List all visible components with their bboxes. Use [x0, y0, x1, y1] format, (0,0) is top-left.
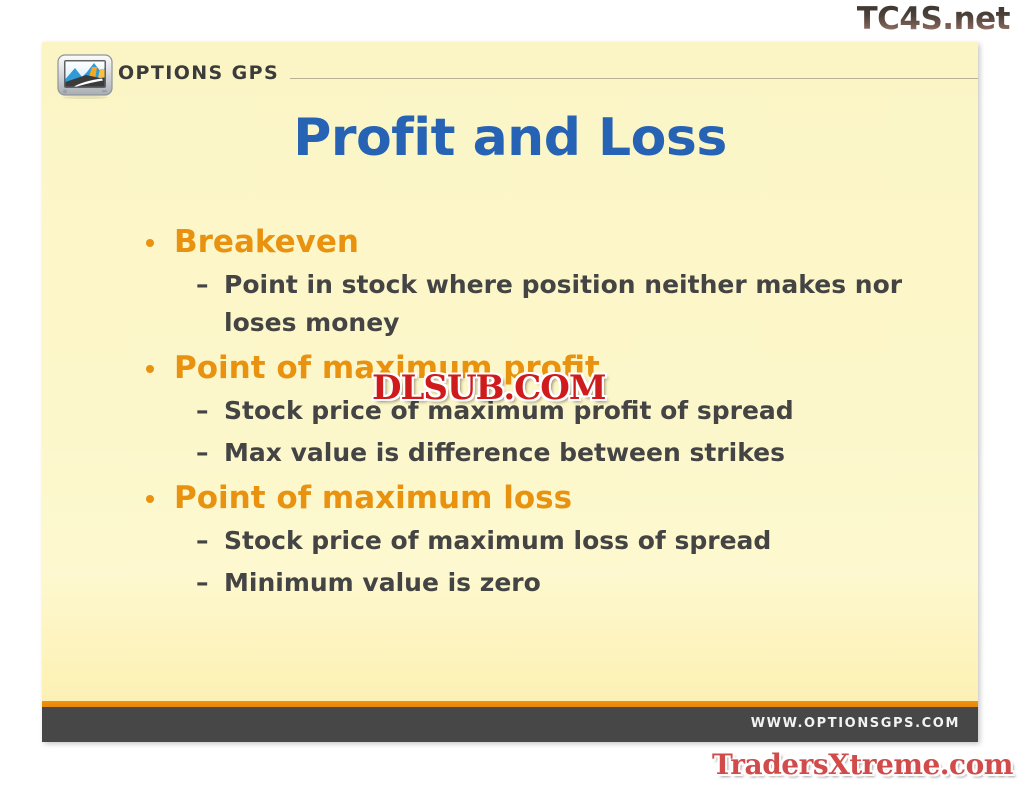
bullet-group: Breakeven – Point in stock where positio…: [138, 220, 958, 342]
dash-icon: –: [196, 564, 209, 602]
slide-footer: www.OptionsGPS.com: [42, 707, 978, 742]
bullet-dot-icon: [146, 365, 154, 373]
dash-icon: –: [196, 266, 209, 304]
dash-icon: –: [196, 522, 209, 560]
sub-bullet-label: Stock price of maximum loss of spread: [224, 526, 771, 555]
slide-header: Options GPS: [42, 42, 978, 104]
sub-bullet-label: Max value is difference between strikes: [224, 438, 785, 467]
footer-url-label: www.OptionsGPS.com: [751, 716, 960, 731]
gps-device-icon: [56, 53, 114, 99]
bullet-dot-icon: [146, 495, 154, 503]
sub-bullet-item: – Max value is difference between strike…: [138, 434, 958, 472]
header-divider: [290, 78, 978, 79]
sub-bullet-item: – Stock price of maximum loss of spread: [138, 522, 958, 560]
tc4s-site-brand: TC4S.net: [857, 2, 1010, 36]
sub-bullet-item: – Minimum value is zero: [138, 564, 958, 602]
brand-wordmark: Options GPS: [118, 62, 279, 84]
dlsub-watermark: DLSUB.COM: [372, 368, 605, 408]
bullet-dot-icon: [146, 239, 154, 247]
dash-icon: –: [196, 434, 209, 472]
slide-body: Breakeven – Point in stock where positio…: [138, 220, 958, 606]
bullet-heading: Point of maximum loss: [138, 476, 958, 520]
bullet-heading-label: Point of maximum loss: [174, 480, 572, 516]
bullet-heading: Breakeven: [138, 220, 958, 264]
bullet-heading-label: Breakeven: [174, 224, 359, 260]
dash-icon: –: [196, 392, 209, 430]
sub-bullet-label: Minimum value is zero: [224, 568, 541, 597]
bullet-group: Point of maximum profit – Stock price of…: [138, 346, 958, 472]
page-title: Profit and Loss: [42, 108, 978, 168]
bullet-group: Point of maximum loss – Stock price of m…: [138, 476, 958, 602]
sub-bullet-item: – Point in stock where position neither …: [138, 266, 958, 342]
sub-bullet-label: Point in stock where position neither ma…: [224, 270, 902, 337]
tradersxtreme-watermark: TradersXtreme.com: [712, 748, 1013, 782]
